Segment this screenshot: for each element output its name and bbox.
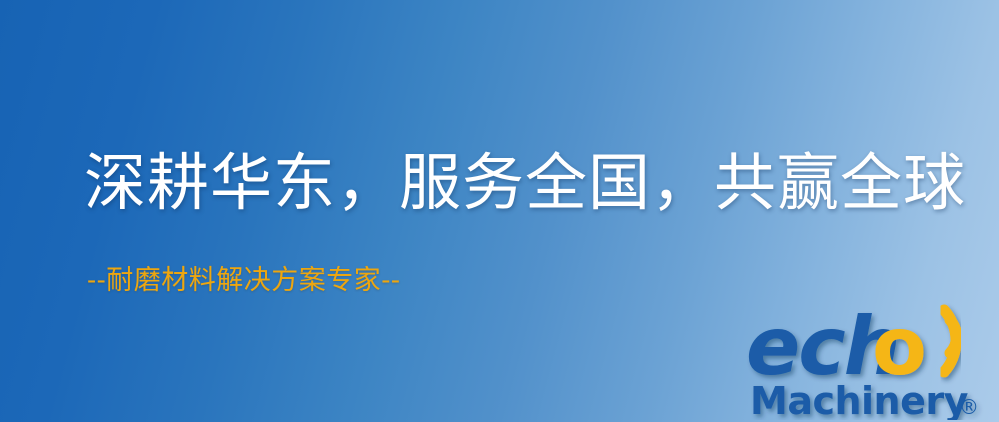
banner-headline: 深耕华东，服务全国，共赢全球: [84, 152, 966, 214]
logo-tagline: Machinery: [750, 379, 969, 420]
echo-wave-icon: [944, 310, 957, 372]
banner-subtitle: --耐磨材料解决方案专家--: [87, 267, 401, 294]
logo-trademark-symbol: ®: [959, 395, 979, 419]
echo-machinery-logo-graphic: ech o Machinery ®: [744, 296, 996, 420]
company-logo[interactable]: ech o Machinery ®: [744, 296, 996, 420]
hero-banner: 深耕华东，服务全国，共赢全球 --耐磨材料解决方案专家-- ech o Mach…: [0, 0, 999, 422]
